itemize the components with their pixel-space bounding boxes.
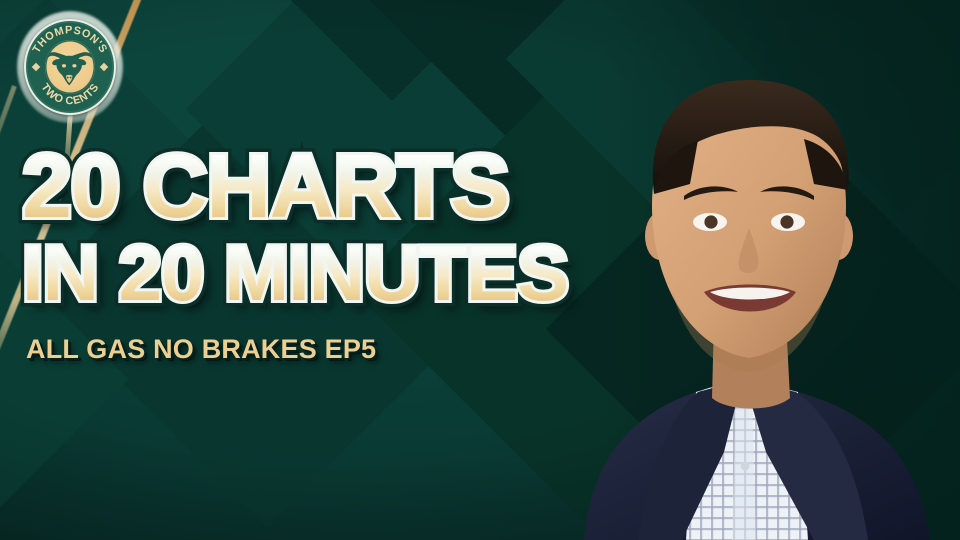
brand-logo[interactable]: THOMPSON'S TWO CENTS <box>17 11 123 123</box>
logo-star-right-icon <box>100 63 108 71</box>
headline-line-2: IN 20 MINUTES IN 20 MINUTES IN 20 MINUTE… <box>22 238 752 318</box>
headline-line-1-text: 20 CHARTS <box>22 146 509 229</box>
title-block: 20 CHARTS 20 CHARTS 20 CHARTS IN 20 MINU… <box>22 146 752 365</box>
logo-ring: THOMPSON'S TWO CENTS <box>24 19 116 115</box>
longhorn-bull-head-icon <box>44 48 96 88</box>
thumbnail-canvas: THOMPSON'S TWO CENTS <box>0 0 960 540</box>
episode-subtitle: ALL GAS NO BRAKES EP5 <box>26 334 752 365</box>
headline-line-2-text: IN 20 MINUTES <box>22 238 568 310</box>
headline-line-1: 20 CHARTS 20 CHARTS 20 CHARTS <box>22 146 752 238</box>
logo-star-left-icon <box>32 63 40 71</box>
logo-inner-disc <box>45 40 95 94</box>
